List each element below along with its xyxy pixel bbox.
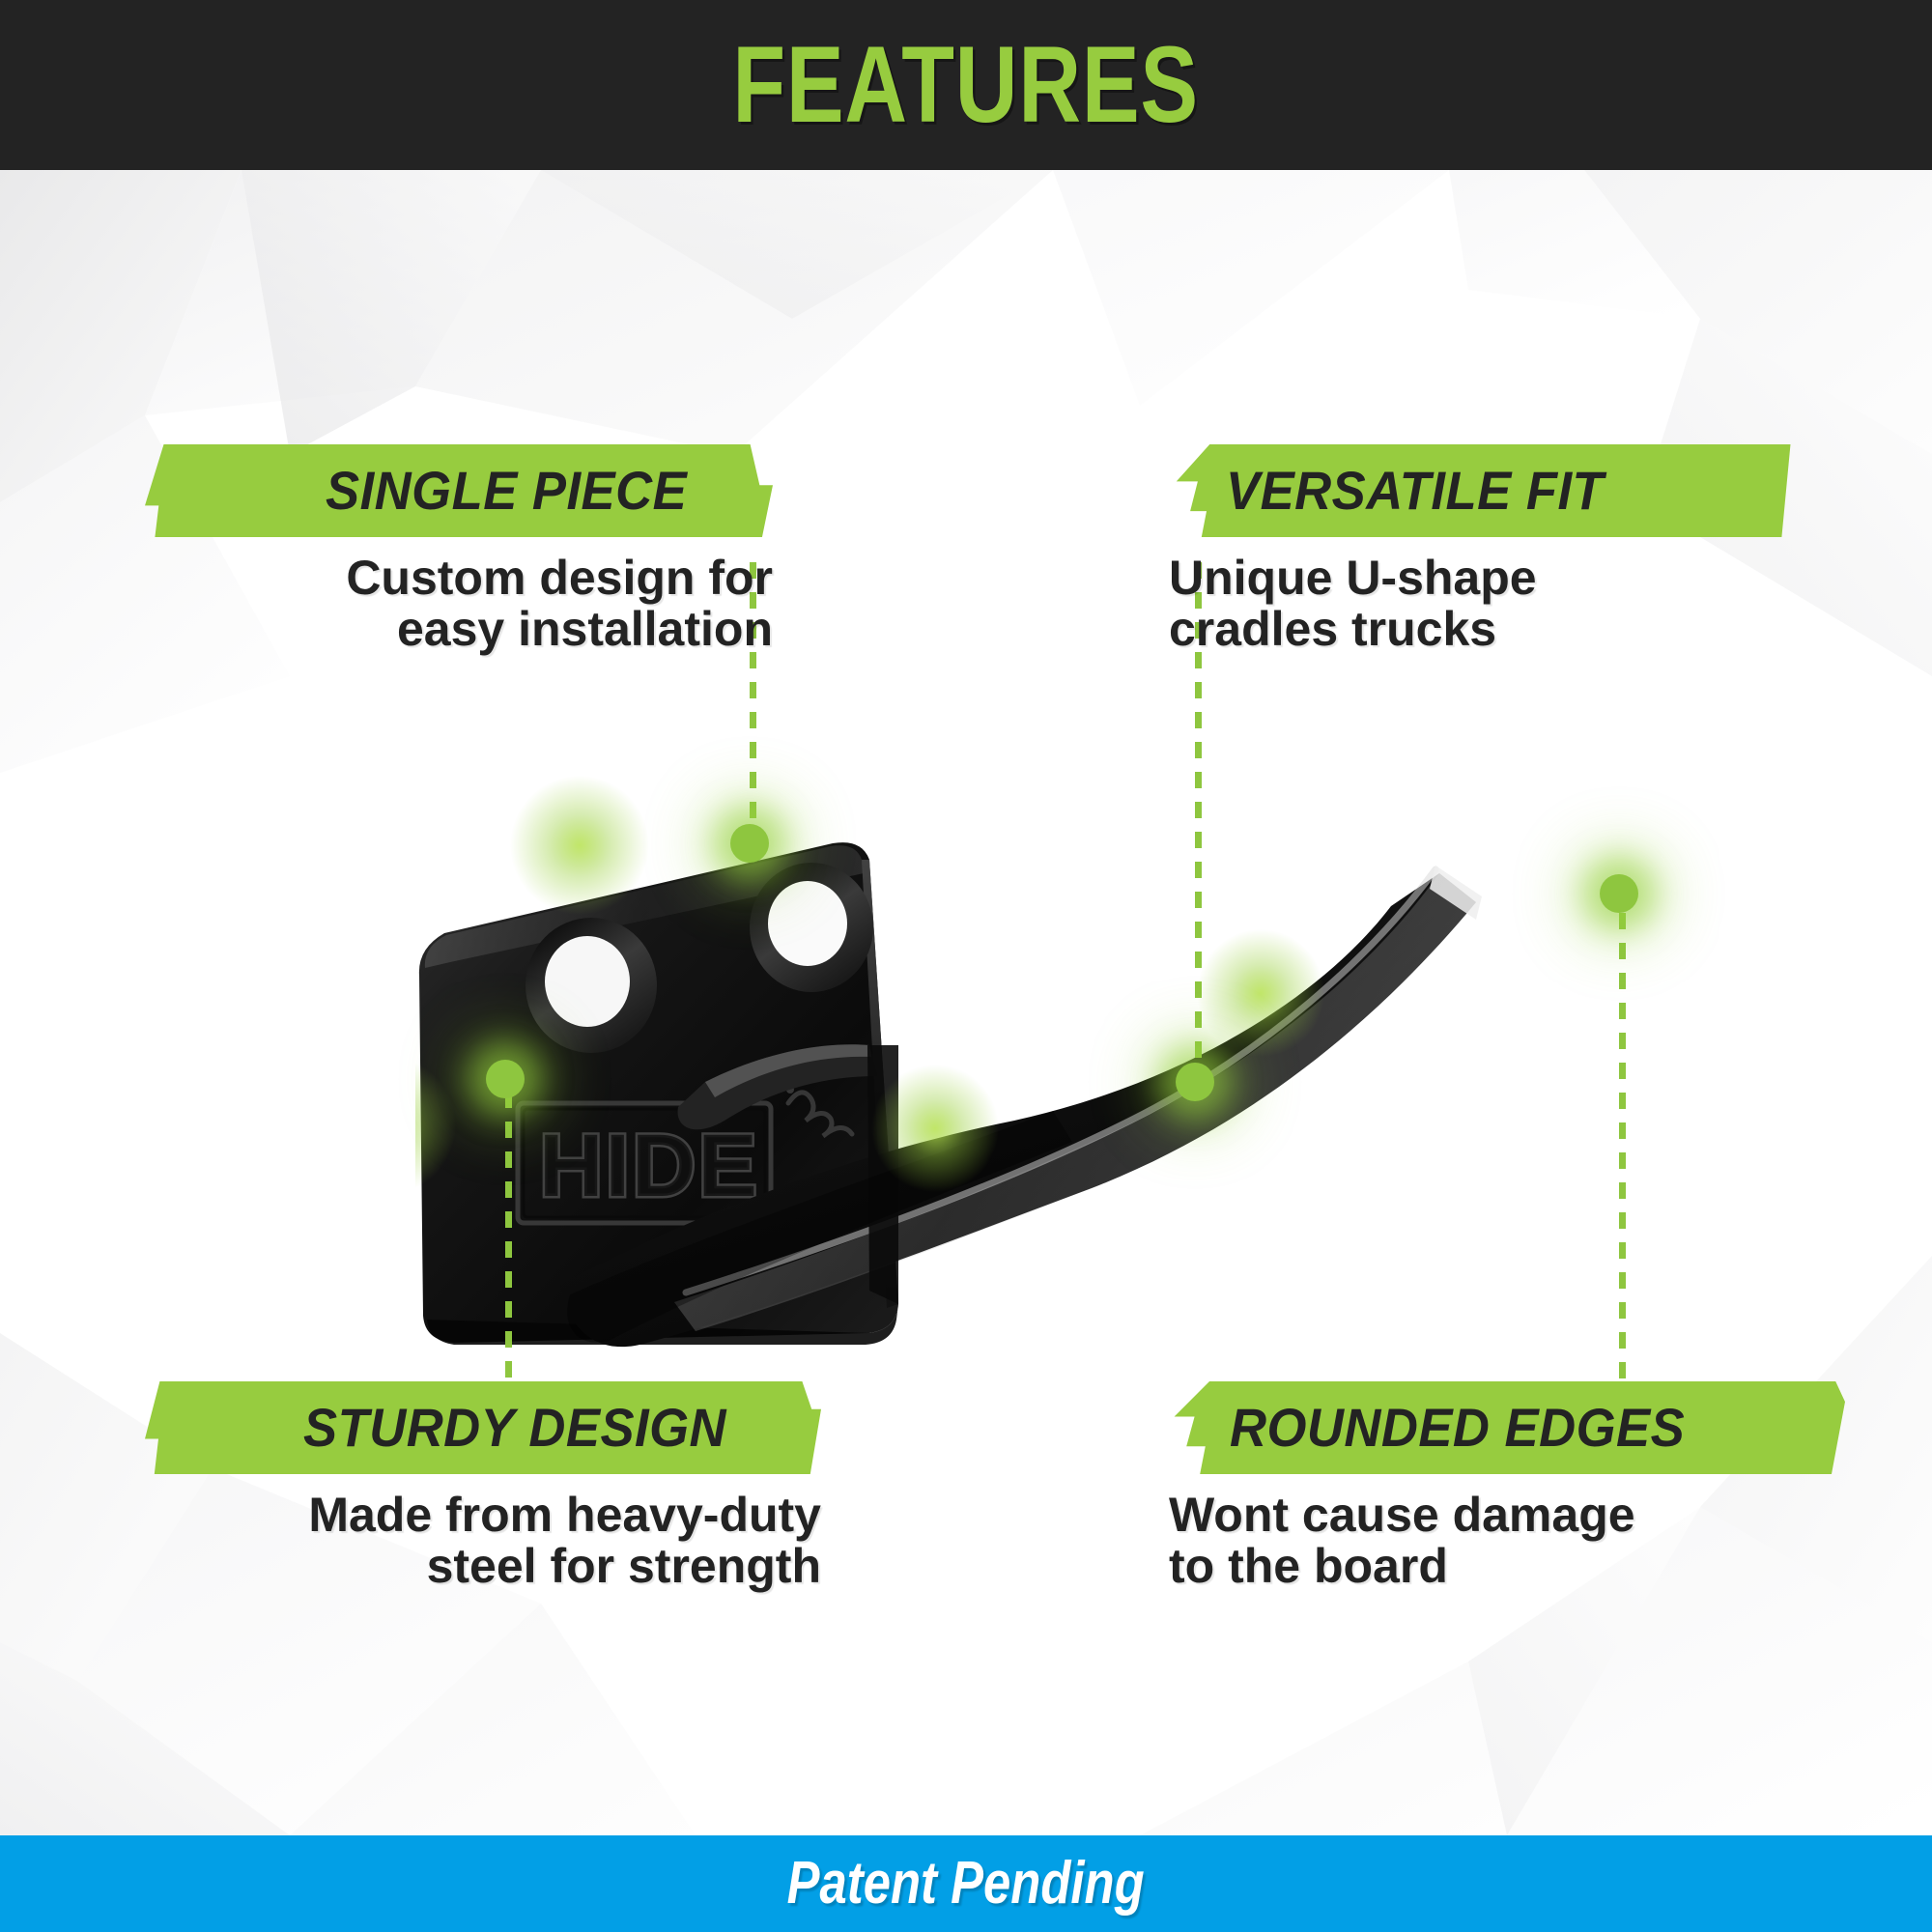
mount-hole-left xyxy=(526,918,657,1053)
feature-description-rounded-edges: Wont cause damage to the board xyxy=(1169,1490,1845,1592)
feature-rounded-edges: ROUNDED EDGES Wont cause damage to the b… xyxy=(1169,1381,1845,1592)
feature-label-versatile-fit: VERSATILE FIT xyxy=(1226,464,1604,518)
feature-single-piece: SINGLE PIECE Custom design for easy inst… xyxy=(145,444,773,655)
connector-line-sturdy-design xyxy=(505,1092,512,1401)
product-image: HIDE HIDE xyxy=(415,667,1700,1381)
svg-text:HIDE: HIDE xyxy=(539,1117,759,1215)
brand-emboss-hide: HIDE HIDE xyxy=(518,1103,771,1223)
feature-badge-versatile-fit: VERSATILE FIT xyxy=(1169,444,1797,537)
feature-label-single-piece: SINGLE PIECE xyxy=(326,464,687,518)
header-bar: FEATURES xyxy=(0,0,1932,170)
mount-hole-right xyxy=(750,863,873,992)
connector-line-rounded-edges xyxy=(1619,913,1626,1396)
hotspot-dot-single-piece xyxy=(730,824,769,863)
feature-sturdy-design: STURDY DESIGN Made from heavy-duty steel… xyxy=(145,1381,821,1592)
page-title: FEATURES xyxy=(733,31,1200,139)
hotspot-dot-rounded-edges xyxy=(1600,874,1638,913)
feature-versatile-fit: VERSATILE FIT Unique U-shape cradles tru… xyxy=(1169,444,1797,655)
feature-description-sturdy-design: Made from heavy-duty steel for strength xyxy=(145,1490,821,1592)
feature-badge-single-piece: SINGLE PIECE xyxy=(145,444,773,537)
hotspot-dot-versatile-fit xyxy=(1176,1063,1214,1101)
infographic-canvas: FEATURES xyxy=(0,0,1932,1932)
feature-badge-sturdy-design: STURDY DESIGN xyxy=(145,1381,821,1474)
feature-label-rounded-edges: ROUNDED EDGES xyxy=(1230,1401,1685,1455)
hotspot-dot-sturdy-design xyxy=(486,1060,525,1098)
feature-label-sturdy-design: STURDY DESIGN xyxy=(303,1401,726,1455)
feature-description-versatile-fit: Unique U-shape cradles trucks xyxy=(1169,553,1797,655)
feature-badge-rounded-edges: ROUNDED EDGES xyxy=(1169,1381,1845,1474)
footer-bar: Patent Pending xyxy=(0,1835,1932,1932)
patent-pending-text: Patent Pending xyxy=(787,1854,1145,1914)
feature-description-single-piece: Custom design for easy installation xyxy=(145,553,773,655)
